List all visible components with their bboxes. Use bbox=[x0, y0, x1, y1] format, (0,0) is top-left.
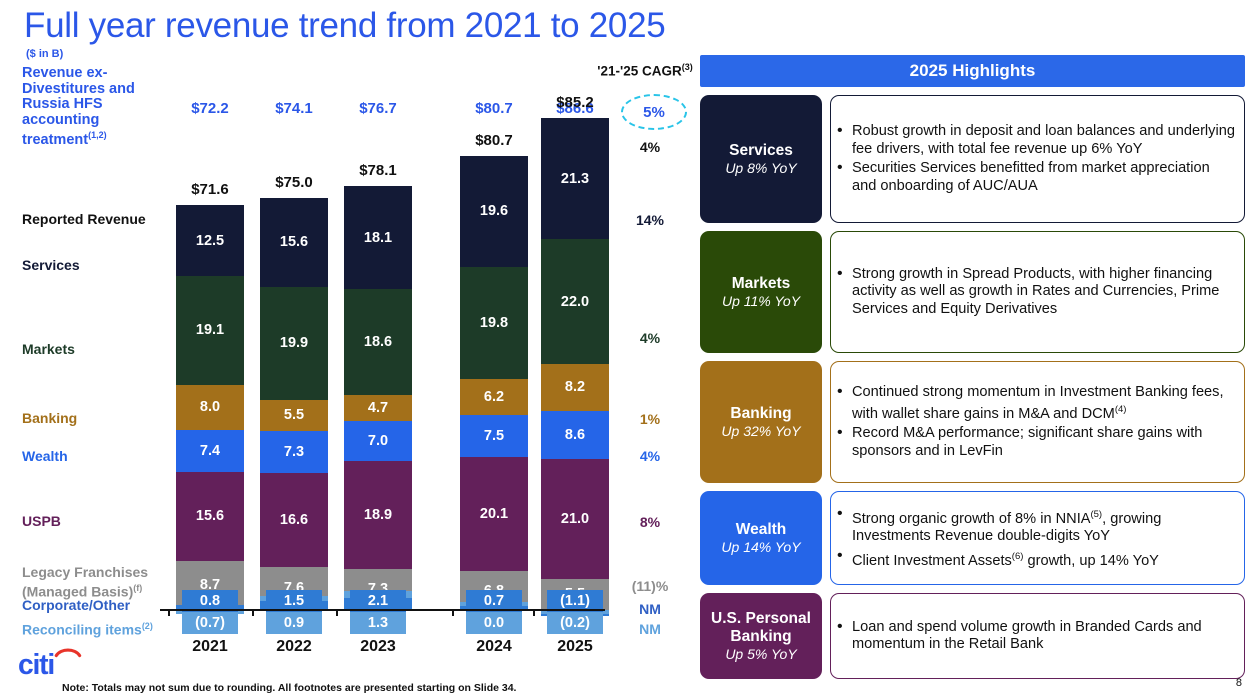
bar-segment: 7.4 bbox=[176, 430, 244, 472]
cagr-value: 4% bbox=[600, 448, 700, 464]
bar-segment: 6.2 bbox=[460, 379, 528, 414]
axis-tick bbox=[533, 609, 535, 616]
chart-footnote: Note: Totals may not sum due to rounding… bbox=[62, 682, 516, 694]
table-row: 19.619.86.27.520.16.8 bbox=[460, 156, 528, 610]
bar-segment: 15.6 bbox=[260, 198, 328, 287]
bar-segment: 12.5 bbox=[176, 205, 244, 276]
bar-segment: 19.1 bbox=[176, 276, 244, 384]
highlight-segment-name: Markets bbox=[732, 275, 791, 293]
highlight-segment-tag: ServicesUp 8% YoY bbox=[700, 95, 822, 223]
series-row-label: Legacy Franchises (Managed Basis)(f) bbox=[22, 565, 172, 600]
bar-segment: 5.5 bbox=[260, 400, 328, 431]
list-item: Strong organic growth of 8% in NNIA(5), … bbox=[835, 506, 1236, 546]
table-row: 18.118.64.77.018.97.3 bbox=[344, 186, 412, 610]
highlight-segment-growth: Up 5% YoY bbox=[725, 646, 796, 663]
highlights-header: 2025 Highlights bbox=[700, 55, 1245, 87]
reconciling-items-value-chip: 1.3 bbox=[350, 612, 406, 634]
cagr-value: 4% bbox=[600, 330, 700, 346]
bar-total-label: $85.2 bbox=[520, 94, 630, 111]
highlight-segment-tag: U.S. Personal BankingUp 5% YoY bbox=[700, 593, 822, 679]
cagr-value: 4% bbox=[600, 139, 700, 155]
bar-segment: 7.3 bbox=[260, 431, 328, 472]
highlights-rows: ServicesUp 8% YoYRobust growth in deposi… bbox=[700, 95, 1245, 679]
series-row-label: Wealth bbox=[22, 449, 172, 465]
table-row: 21.322.08.28.621.05.5 bbox=[541, 118, 609, 610]
bar-segment: 20.1 bbox=[460, 457, 528, 571]
reconciling-items-value-chip: 0.0 bbox=[466, 612, 522, 634]
highlight-segment-tag: MarketsUp 11% YoY bbox=[700, 231, 822, 353]
axis-tick bbox=[252, 609, 254, 616]
list-item: Robust growth in deposit and loan balanc… bbox=[835, 123, 1236, 158]
highlight-bullets: Robust growth in deposit and loan balanc… bbox=[830, 95, 1245, 223]
highlight-segment-tag: BankingUp 32% YoY bbox=[700, 361, 822, 483]
bar-segment: 7.0 bbox=[344, 421, 412, 461]
svg-text:citi: citi bbox=[18, 649, 54, 681]
reconciling-items-value-chip: (0.7) bbox=[182, 612, 238, 634]
highlight-row[interactable]: U.S. Personal BankingUp 5% YoYLoan and s… bbox=[700, 593, 1245, 679]
bar-segment: 8.6 bbox=[541, 411, 609, 460]
highlight-row[interactable]: ServicesUp 8% YoYRobust growth in deposi… bbox=[700, 95, 1245, 223]
highlight-row[interactable]: WealthUp 14% YoYStrong organic growth of… bbox=[700, 491, 1245, 585]
list-item: Strong growth in Spread Products, with h… bbox=[835, 266, 1236, 319]
citi-logo: citi bbox=[18, 645, 92, 681]
table-row: 15.619.95.57.316.67.6 bbox=[260, 198, 328, 610]
bar-segment: 4.7 bbox=[344, 395, 412, 422]
bar-segment: 15.6 bbox=[176, 472, 244, 561]
bar-segment: 8.0 bbox=[176, 385, 244, 430]
series-row-label: Reported Revenue bbox=[22, 212, 172, 228]
x-axis-year-label: 2025 bbox=[520, 638, 630, 656]
bar-segment: 16.6 bbox=[260, 473, 328, 567]
highlight-bullets: Loan and spend volume growth in Branded … bbox=[830, 593, 1245, 679]
cagr-value: 1% bbox=[600, 411, 700, 427]
highlight-row[interactable]: BankingUp 32% YoYContinued strong moment… bbox=[700, 361, 1245, 483]
bar-segment: 18.6 bbox=[344, 289, 412, 395]
list-item: Record M&A performance; significant shar… bbox=[835, 425, 1236, 460]
axis-tick bbox=[168, 609, 170, 616]
axis-tick bbox=[336, 609, 338, 616]
highlight-segment-tag: WealthUp 14% YoY bbox=[700, 491, 822, 585]
reconciling-items-value-chip: 0.9 bbox=[266, 612, 322, 634]
highlight-segment-name: Banking bbox=[730, 405, 791, 423]
revenue-stacked-bar-chart: Revenue ex-Divestitures and Russia HFS a… bbox=[0, 0, 700, 697]
cagr-value: NM bbox=[600, 621, 700, 637]
series-row-label: Markets bbox=[22, 342, 172, 358]
cagr-value: (11)% bbox=[600, 578, 700, 594]
highlights-panel: 2025 Highlights ServicesUp 8% YoYRobust … bbox=[700, 55, 1245, 679]
revenue-ex-value: $72.2 bbox=[165, 100, 255, 117]
series-row-label: Services bbox=[22, 258, 172, 274]
list-item: Loan and spend volume growth in Branded … bbox=[835, 619, 1236, 654]
bar-segment: 8.2 bbox=[541, 364, 609, 411]
bar-segment: 21.3 bbox=[541, 118, 609, 239]
highlight-segment-growth: Up 14% YoY bbox=[721, 539, 800, 556]
cagr-highlight-oval: 5% bbox=[621, 94, 687, 130]
bar-segment: 7.5 bbox=[460, 415, 528, 458]
bar-segment: 18.9 bbox=[344, 461, 412, 568]
highlight-segment-name: Services bbox=[729, 142, 793, 160]
highlight-bullets: Strong organic growth of 8% in NNIA(5), … bbox=[830, 491, 1245, 585]
axis-tick bbox=[452, 609, 454, 616]
bar-segment: 22.0 bbox=[541, 239, 609, 364]
highlight-bullets: Continued strong momentum in Investment … bbox=[830, 361, 1245, 483]
series-row-label: Corporate/Other bbox=[22, 598, 172, 614]
series-row-label: USPB bbox=[22, 514, 172, 530]
list-item: Client Investment Assets(6) growth, up 1… bbox=[835, 548, 1236, 570]
bar-total-label: $80.7 bbox=[439, 132, 549, 149]
bar-segment: 21.0 bbox=[541, 459, 609, 578]
page-number: 8 bbox=[1236, 677, 1242, 689]
list-item: Securities Services benefitted from mark… bbox=[835, 160, 1236, 195]
bar-segment: 19.6 bbox=[460, 156, 528, 267]
revenue-ex-value: $74.1 bbox=[249, 100, 339, 117]
series-row-label: Banking bbox=[22, 411, 172, 427]
revenue-ex-value: $76.7 bbox=[333, 100, 423, 117]
bar-total-label: $78.1 bbox=[323, 162, 433, 179]
bar-segment: 18.1 bbox=[344, 186, 412, 289]
highlight-segment-name: U.S. Personal Banking bbox=[702, 610, 820, 646]
cagr-value: 14% bbox=[600, 212, 700, 228]
cagr-column-header: '21-'25 CAGR(3) bbox=[580, 62, 710, 79]
highlight-bullets: Strong growth in Spread Products, with h… bbox=[830, 231, 1245, 353]
reconciling-items-value-chip: (0.2) bbox=[547, 612, 603, 634]
x-axis-year-label: 2023 bbox=[323, 638, 433, 656]
cagr-value: NM bbox=[600, 601, 700, 617]
highlight-segment-growth: Up 8% YoY bbox=[725, 160, 796, 177]
highlight-segment-name: Wealth bbox=[736, 521, 787, 539]
cagr-value: 8% bbox=[600, 514, 700, 530]
bar-segment: 19.8 bbox=[460, 267, 528, 379]
revenue-ex-divestitures-label: Revenue ex-Divestitures and Russia HFS a… bbox=[22, 66, 152, 148]
highlight-segment-growth: Up 32% YoY bbox=[721, 423, 800, 440]
series-row-label: Reconciling items(2) bbox=[22, 619, 172, 638]
bar-segment: 19.9 bbox=[260, 287, 328, 400]
list-item: Continued strong momentum in Investment … bbox=[835, 384, 1236, 424]
highlight-segment-growth: Up 11% YoY bbox=[722, 293, 800, 310]
table-row: 12.519.18.07.415.68.7 bbox=[176, 205, 244, 610]
x-axis-line bbox=[160, 609, 605, 611]
highlight-row[interactable]: MarketsUp 11% YoYStrong growth in Spread… bbox=[700, 231, 1245, 353]
